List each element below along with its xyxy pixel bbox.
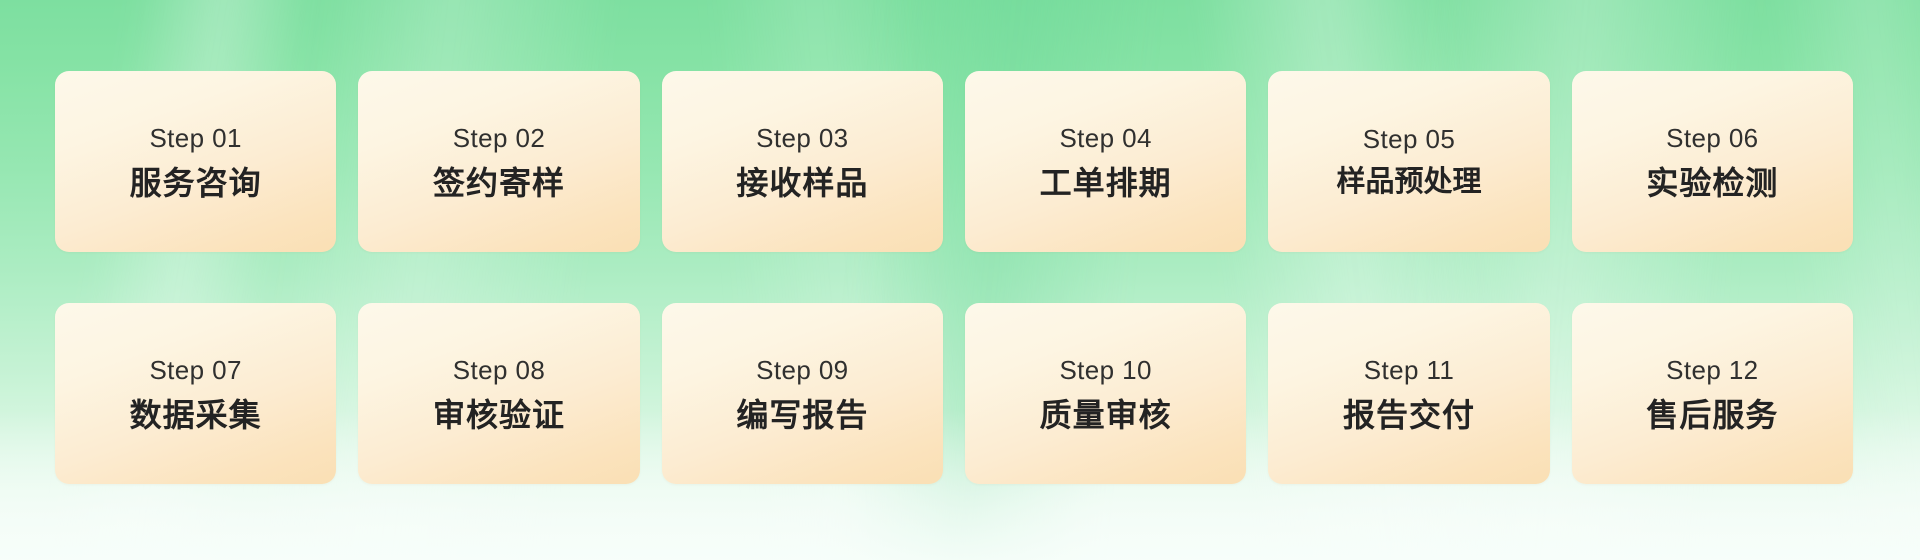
step-number: Step 05 (1363, 126, 1455, 152)
step-card-12[interactable]: Step 12 售后服务 (1572, 303, 1853, 484)
step-label: 审核验证 (433, 399, 565, 431)
step-number: Step 04 (1059, 125, 1151, 151)
step-card-03[interactable]: Step 03 接收样品 (662, 71, 943, 252)
step-label: 报告交付 (1343, 399, 1475, 431)
step-number: Step 01 (149, 125, 241, 151)
step-label: 服务咨询 (130, 167, 262, 199)
step-label: 实验检测 (1646, 167, 1778, 199)
process-steps-board: Step 01 服务咨询 Step 02 签约寄样 Step 03 接收样品 S… (0, 0, 1920, 560)
step-label: 接收样品 (736, 167, 868, 199)
step-card-10[interactable]: Step 10 质量审核 (965, 303, 1246, 484)
step-label: 售后服务 (1646, 399, 1778, 431)
step-number: Step 09 (756, 357, 848, 383)
step-label: 样品预处理 (1336, 168, 1481, 197)
step-label: 工单排期 (1040, 167, 1172, 199)
step-card-grid: Step 01 服务咨询 Step 02 签约寄样 Step 03 接收样品 S… (55, 71, 1853, 484)
step-card-08[interactable]: Step 08 审核验证 (358, 303, 639, 484)
step-card-04[interactable]: Step 04 工单排期 (965, 71, 1246, 252)
step-card-02[interactable]: Step 02 签约寄样 (358, 71, 639, 252)
step-label: 质量审核 (1040, 399, 1172, 431)
step-number: Step 02 (453, 125, 545, 151)
step-card-06[interactable]: Step 06 实验检测 (1572, 71, 1853, 252)
step-number: Step 06 (1666, 125, 1758, 151)
step-number: Step 11 (1364, 357, 1455, 383)
step-label: 编写报告 (736, 399, 868, 431)
step-card-11[interactable]: Step 11 报告交付 (1268, 303, 1549, 484)
step-card-07[interactable]: Step 07 数据采集 (55, 303, 336, 484)
step-number: Step 08 (453, 357, 545, 383)
step-card-05[interactable]: Step 05 样品预处理 (1268, 71, 1549, 252)
step-card-01[interactable]: Step 01 服务咨询 (55, 71, 336, 252)
step-number: Step 03 (756, 125, 848, 151)
step-card-09[interactable]: Step 09 编写报告 (662, 303, 943, 484)
step-number: Step 07 (149, 357, 241, 383)
step-label: 签约寄样 (433, 167, 565, 199)
step-number: Step 12 (1666, 357, 1758, 383)
step-number: Step 10 (1059, 357, 1151, 383)
step-label: 数据采集 (130, 399, 262, 431)
